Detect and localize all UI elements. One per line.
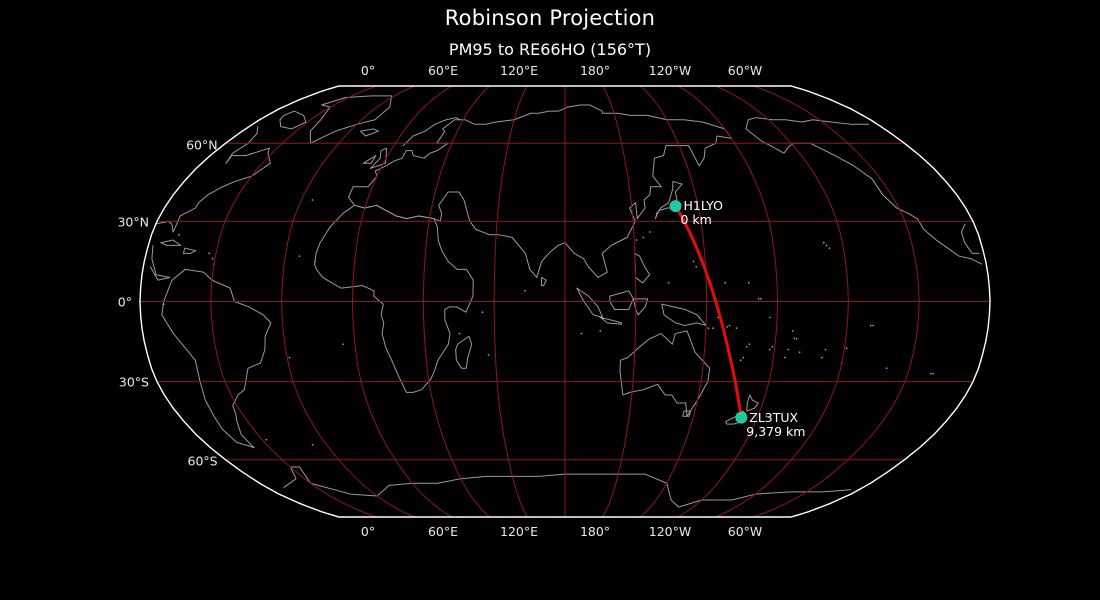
great-circle-path (676, 206, 742, 417)
marker-distance-destination: 9,379 km (746, 424, 805, 439)
x-tick-bottom-1: 60°E (428, 524, 458, 539)
x-tick-top-5: 60°W (728, 63, 763, 78)
y-tick-0: 60°N (186, 138, 218, 153)
marker-callsign-origin: H1LYO (683, 198, 722, 213)
x-tick-bottom-5: 60°W (728, 524, 763, 539)
marker-callsign-destination: ZL3TUX (749, 410, 798, 425)
marker-dot-destination[interactable] (735, 412, 747, 424)
graticule-layer (140, 86, 990, 517)
x-tick-top-1: 60°E (428, 63, 458, 78)
robinson-projection-figure: Robinson Projection PM95 to RE66HO (156°… (0, 0, 1100, 600)
x-tick-top-4: 120°W (649, 63, 691, 78)
marker-dot-origin[interactable] (670, 200, 682, 212)
x-tick-bottom-2: 120°E (500, 524, 538, 539)
x-tick-bottom-4: 120°W (649, 524, 691, 539)
map-canvas[interactable] (0, 0, 1100, 600)
x-tick-top-0: 0° (361, 63, 375, 78)
y-tick-1: 30°N (117, 215, 149, 230)
map-svg (0, 0, 1100, 600)
marker-distance-origin: 0 km (680, 212, 711, 227)
y-tick-2: 0° (118, 295, 132, 310)
x-tick-bottom-0: 0° (361, 524, 375, 539)
x-tick-bottom-3: 180° (580, 524, 610, 539)
x-tick-top-3: 180° (580, 63, 610, 78)
x-tick-top-2: 120°E (500, 63, 538, 78)
y-tick-3: 30°S (119, 375, 149, 390)
y-tick-4: 60°S (188, 454, 218, 469)
